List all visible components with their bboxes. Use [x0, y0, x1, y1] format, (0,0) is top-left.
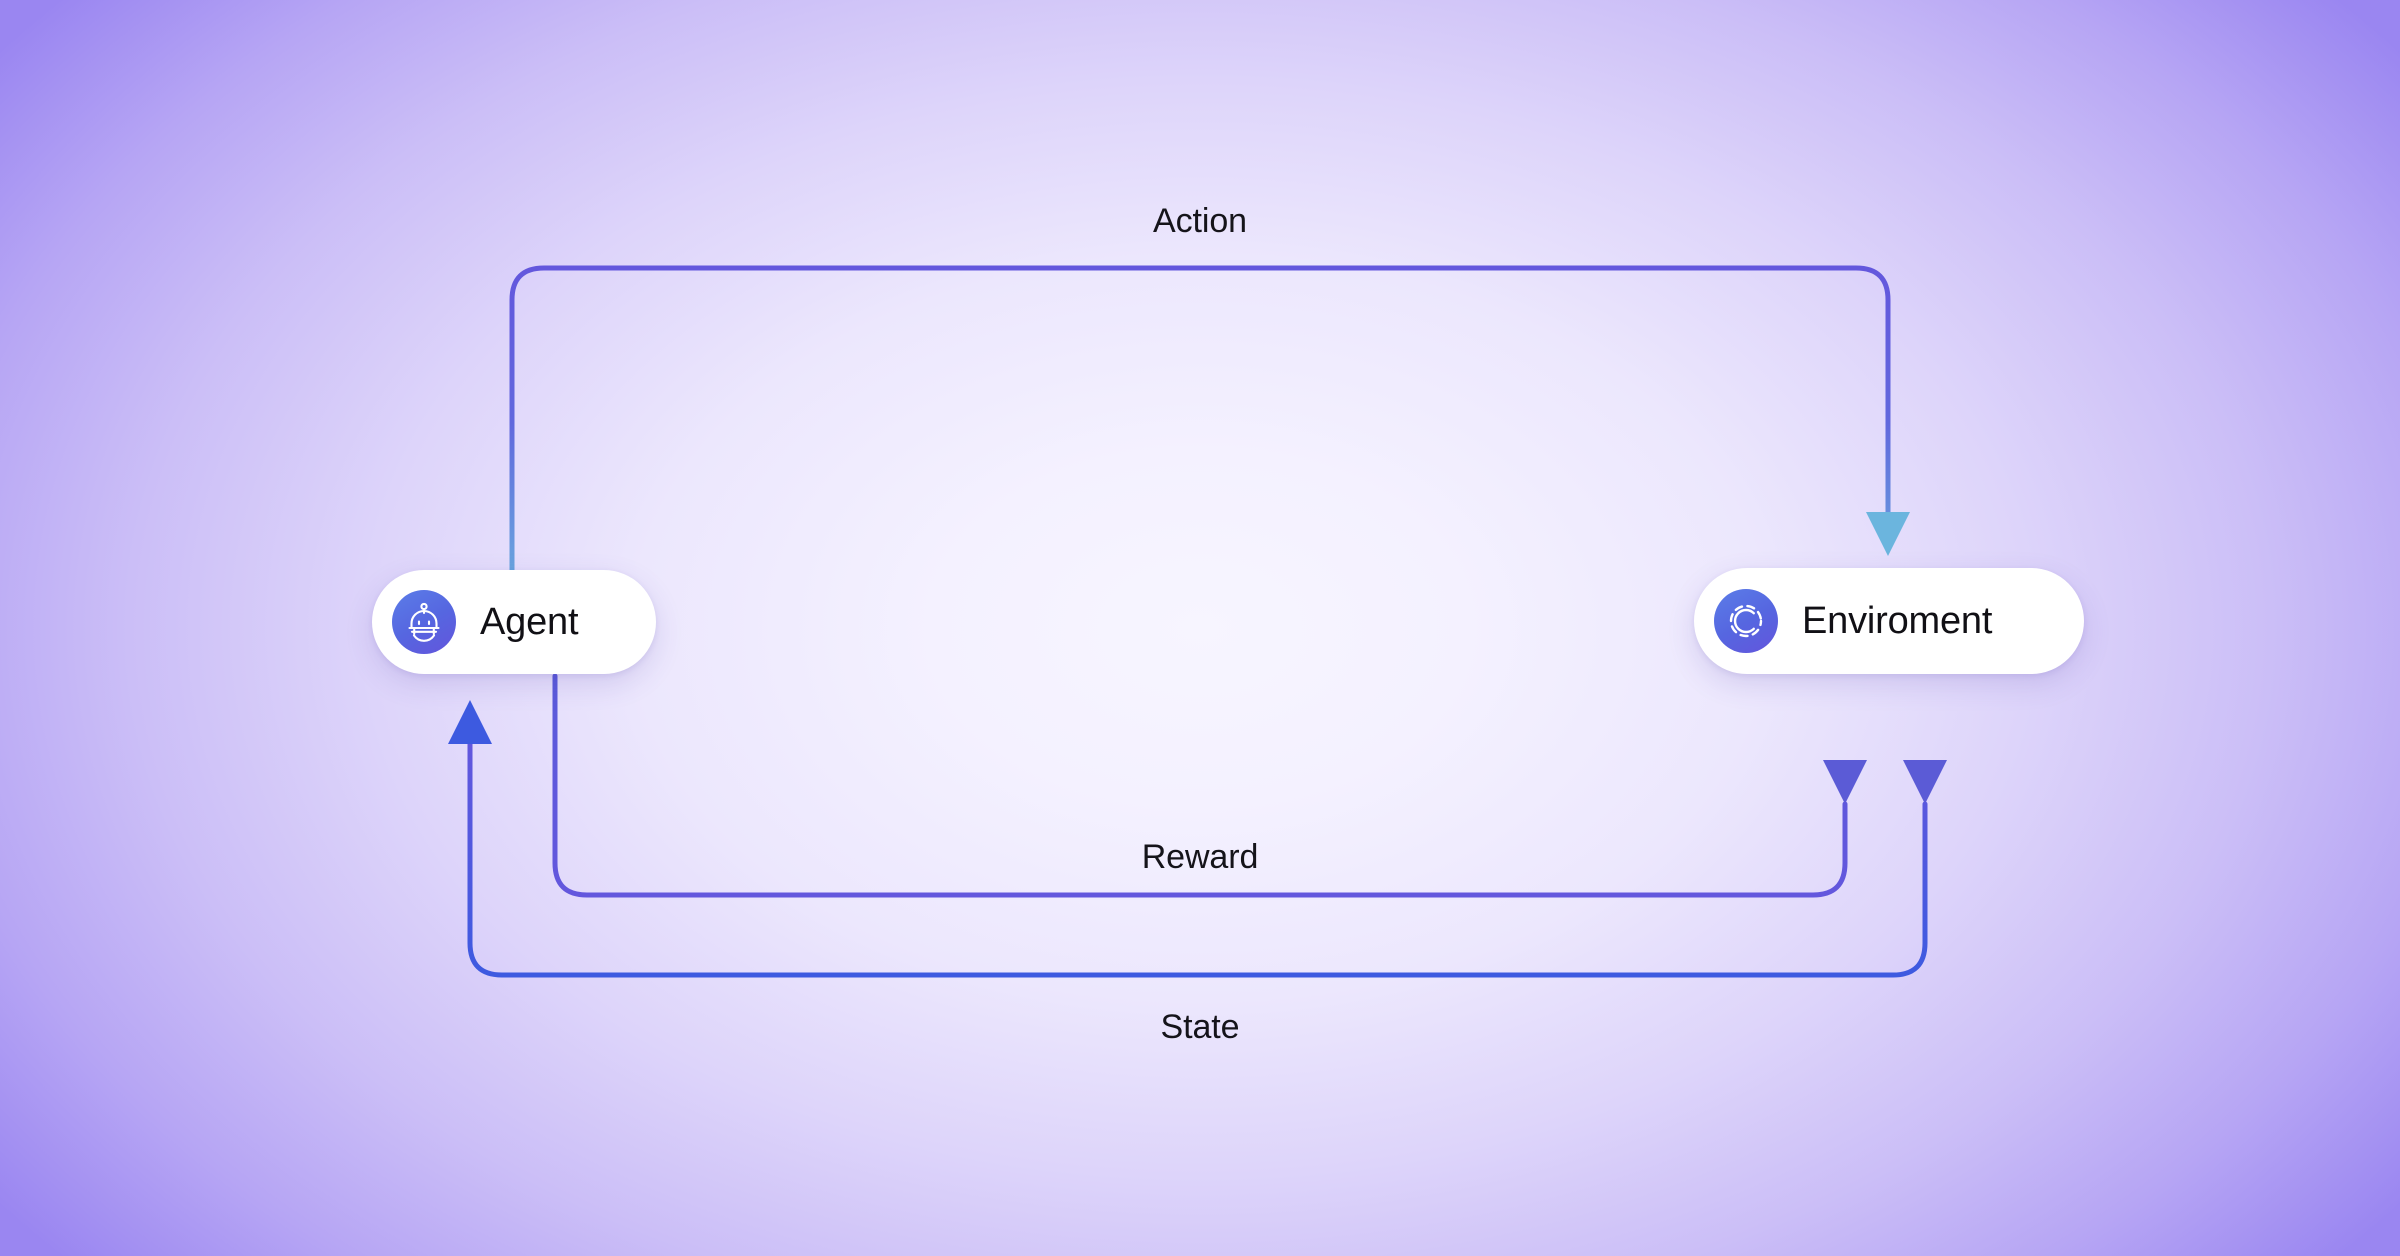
- robot-icon: [392, 590, 456, 654]
- diagram-canvas: Agent Enviroment Action Reward State: [0, 0, 2400, 1256]
- edge-state: [448, 676, 1947, 975]
- edge-state-arrowhead-mid: [1903, 760, 1947, 804]
- node-agent-label: Agent: [480, 601, 578, 644]
- edge-label-action: Action: [1153, 202, 1247, 241]
- edge-reward-arrowhead: [1823, 760, 1867, 804]
- edge-label-reward: Reward: [1142, 838, 1259, 877]
- edge-label-state: State: [1161, 1008, 1240, 1047]
- node-environment-label: Enviroment: [1802, 600, 1992, 643]
- edge-action: [512, 268, 1910, 612]
- node-agent[interactable]: Agent: [372, 570, 656, 674]
- dashed-circle-icon: [1714, 589, 1778, 653]
- edge-state-arrowhead: [448, 700, 492, 744]
- edge-action-path: [512, 268, 1888, 612]
- edge-action-arrowhead: [1866, 512, 1910, 556]
- node-environment[interactable]: Enviroment: [1694, 568, 2084, 674]
